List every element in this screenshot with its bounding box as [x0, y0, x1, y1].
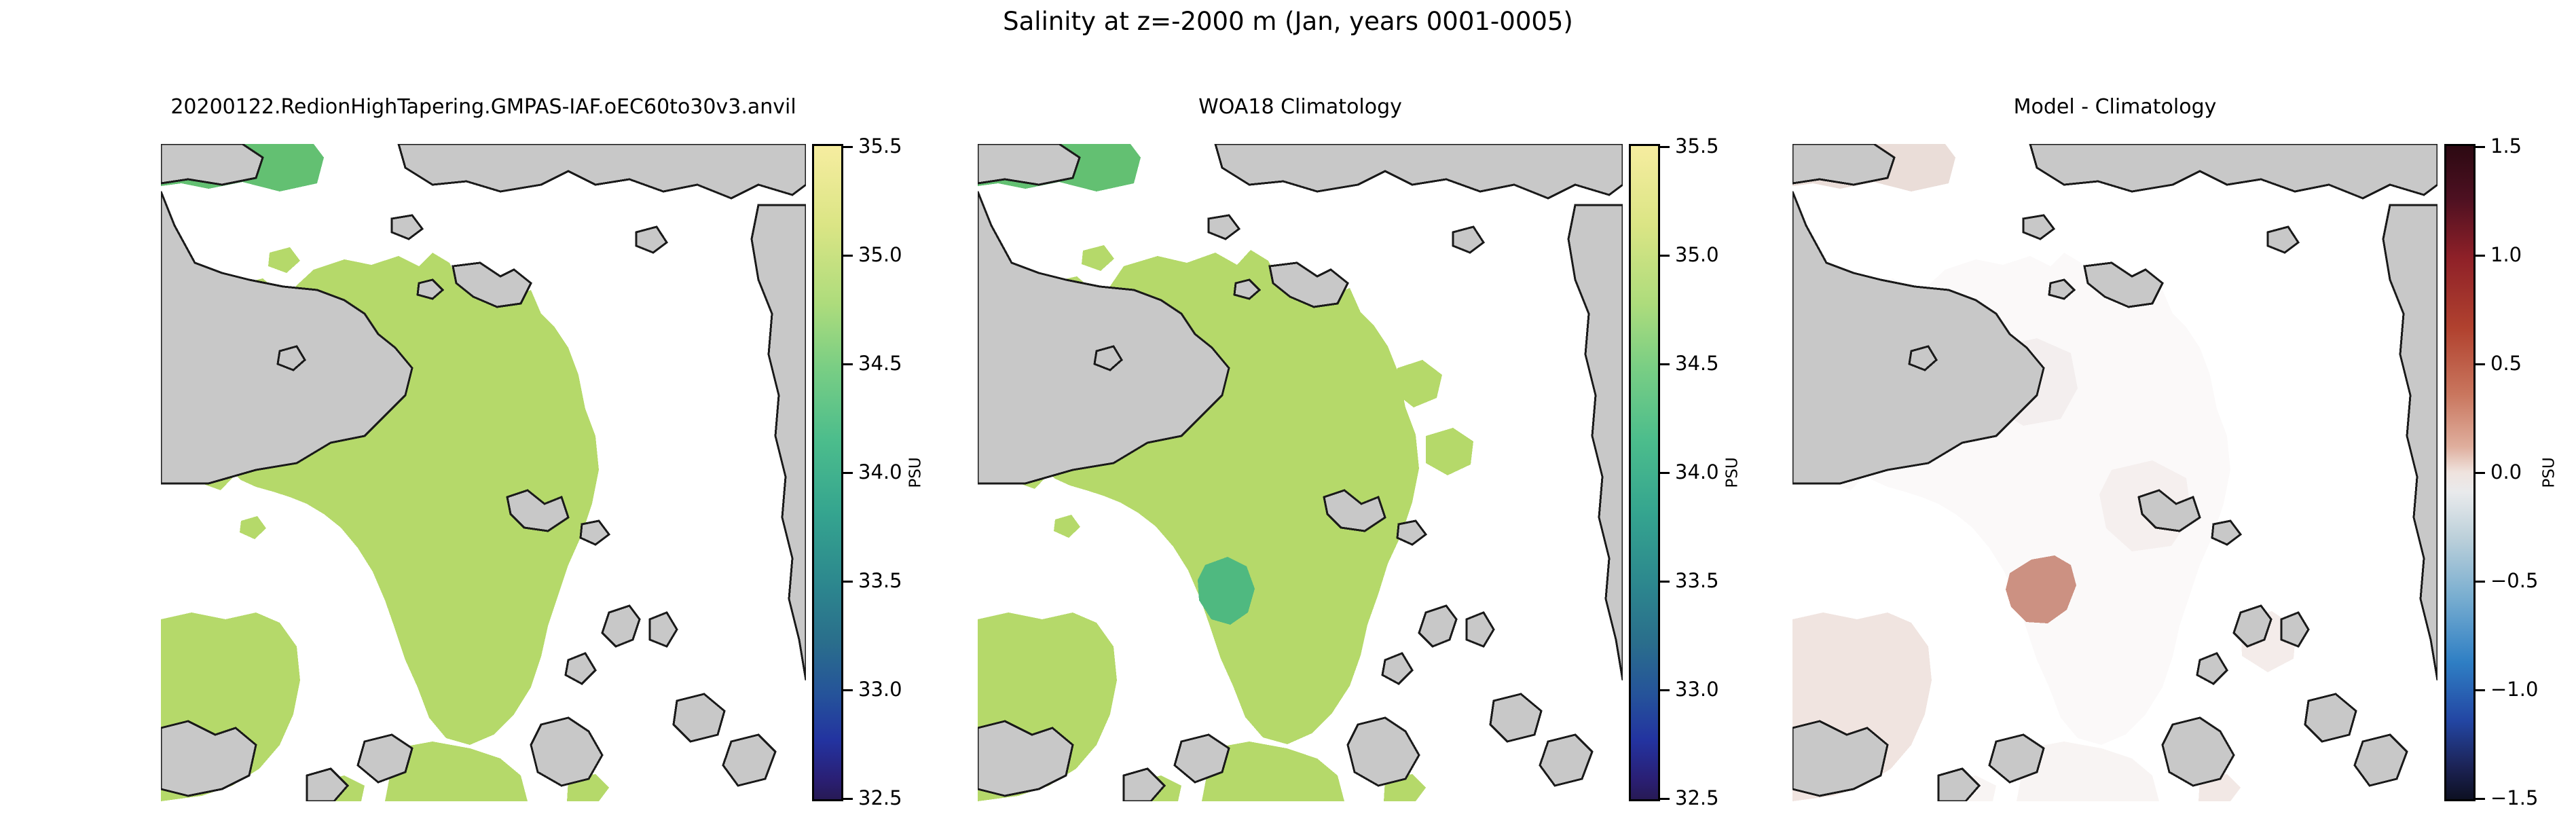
map-difference[interactable] — [1792, 144, 2437, 801]
map-climatology[interactable] — [978, 144, 1623, 801]
cb-tick-label: 0.5 — [2490, 352, 2522, 375]
cb-tick-label: 34.0 — [1675, 460, 1719, 483]
cb-tick-label: 33.5 — [858, 569, 902, 592]
panel-model: 20200122.RedionHighTapering.GMPAS-IAF.oE… — [161, 144, 806, 801]
cb-tick-label: 32.5 — [1675, 786, 1719, 809]
cb-tick-label: −1.5 — [2490, 786, 2538, 809]
colorbar-ticks-salinity-2: 35.5 35.0 34.5 34.0 33.5 33.0 32.5 — [1660, 144, 1769, 801]
cb-tick-label: 33.0 — [858, 678, 902, 701]
cb-tick-label: 35.5 — [1675, 134, 1719, 158]
cb-tick-label: 33.0 — [1675, 678, 1719, 701]
cb-tick-label: 34.5 — [858, 352, 902, 375]
cb-tick-label: 0.0 — [2490, 460, 2522, 483]
colorbar-gradient-salinity-2 — [1629, 144, 1660, 801]
cb-tick-label: 35.0 — [1675, 243, 1719, 266]
colorbar-ticks-salinity: 35.5 35.0 34.5 34.0 33.5 33.0 32.5 — [843, 144, 952, 801]
colorbar-axis-label: PSU — [1724, 457, 1742, 488]
colorbar-ticks-anomaly: 1.5 1.0 0.5 0.0 −0.5 −1.0 −1.5 — [2476, 144, 2576, 801]
cb-tick-label: 33.5 — [1675, 569, 1719, 592]
cb-tick-label: 32.5 — [858, 786, 902, 809]
colorbar-gradient-anomaly — [2444, 144, 2476, 801]
cb-tick-label: 1.5 — [2490, 134, 2522, 158]
cb-tick-label: 35.0 — [858, 243, 902, 266]
cb-tick-label: −1.0 — [2490, 678, 2538, 701]
panel-title-difference: Model - Climatology — [2014, 95, 2217, 119]
colorbar-axis-label: PSU — [907, 457, 925, 488]
panel-title-climatology: WOA18 Climatology — [1198, 95, 1402, 119]
figure-root: Salinity at z=-2000 m (Jan, years 0001-0… — [0, 0, 2576, 823]
cb-tick-label: −0.5 — [2490, 569, 2538, 592]
panel-climatology: WOA18 Climatology — [978, 144, 1623, 801]
panel-difference: Model - Climatology — [1792, 144, 2437, 801]
figure-suptitle: Salinity at z=-2000 m (Jan, years 0001-0… — [0, 7, 2576, 36]
colorbar-gradient-salinity — [812, 144, 843, 801]
colorbar-axis-label: PSU — [2541, 457, 2558, 488]
cb-tick-label: 1.0 — [2490, 243, 2522, 266]
panel-title-model: 20200122.RedionHighTapering.GMPAS-IAF.oE… — [170, 95, 796, 119]
map-model[interactable] — [161, 144, 806, 801]
cb-tick-label: 35.5 — [858, 134, 902, 158]
cb-tick-label: 34.0 — [858, 460, 902, 483]
cb-tick-label: 34.5 — [1675, 352, 1719, 375]
